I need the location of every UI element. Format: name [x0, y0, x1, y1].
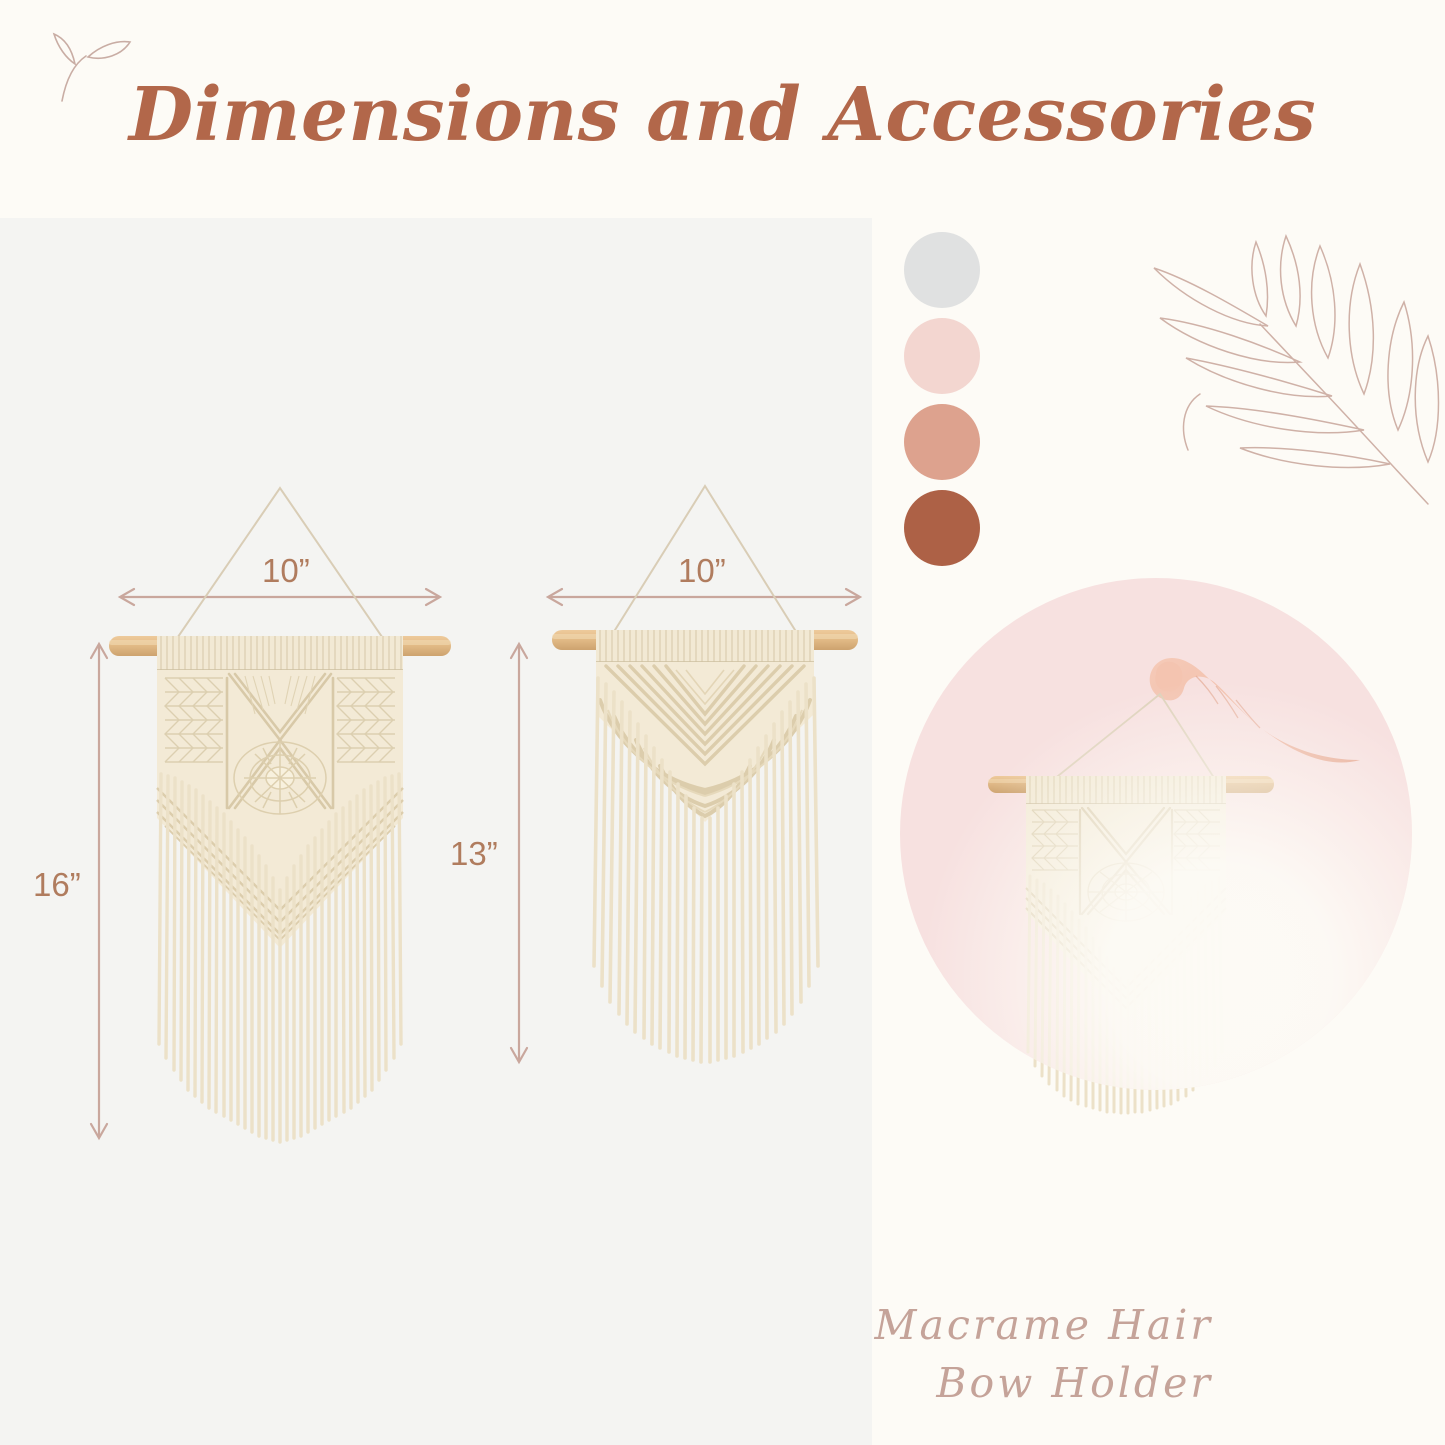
- macrame-wall-hanging-large: [95, 478, 465, 1158]
- macrame-wall-hanging-small: [540, 478, 870, 1078]
- product1-height-label: 16”: [33, 866, 81, 904]
- terracotta-swatch: [904, 490, 980, 566]
- grey-swatch: [904, 232, 980, 308]
- page-title: Dimensions and Accessories: [0, 72, 1445, 158]
- leaf-sprig-icon: [30, 14, 140, 109]
- product2-height-arrow: [508, 636, 530, 1070]
- blush-swatch: [904, 318, 980, 394]
- color-swatch-list: [904, 232, 994, 576]
- product-name-line2: Bow Holder: [936, 1359, 1213, 1407]
- product2-height-label: 13”: [450, 835, 498, 873]
- product-name-script: Macrame Hair Bow Holder: [874, 1296, 1213, 1412]
- salmon-swatch: [904, 404, 980, 480]
- product-name-line1: Macrame Hair: [874, 1301, 1213, 1349]
- infographic-canvas: Dimensions and Accessories: [0, 0, 1445, 1445]
- lifestyle-circle-fade: [900, 578, 1412, 1090]
- palm-frond-icon: [1128, 208, 1445, 508]
